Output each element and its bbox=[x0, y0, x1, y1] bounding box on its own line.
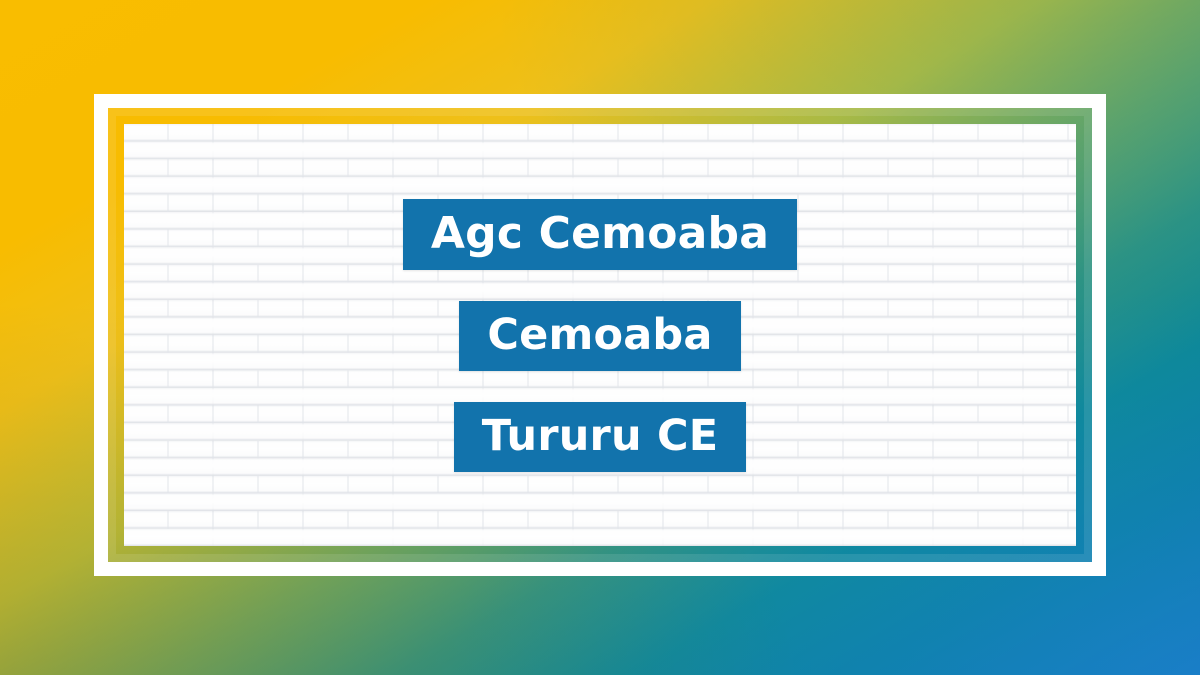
title-label-stack: Agc Cemoaba Cemoaba Tururu CE bbox=[116, 116, 1084, 554]
framed-panel: Agc Cemoaba Cemoaba Tururu CE bbox=[94, 94, 1106, 576]
title-label-secondary: Cemoaba bbox=[459, 301, 740, 371]
title-label-location: Tururu CE bbox=[454, 402, 747, 472]
title-card: Agc Cemoaba Cemoaba Tururu CE bbox=[0, 0, 1200, 675]
frame-inner-rim: Agc Cemoaba Cemoaba Tururu CE bbox=[108, 108, 1092, 562]
title-label-primary: Agc Cemoaba bbox=[403, 199, 797, 270]
